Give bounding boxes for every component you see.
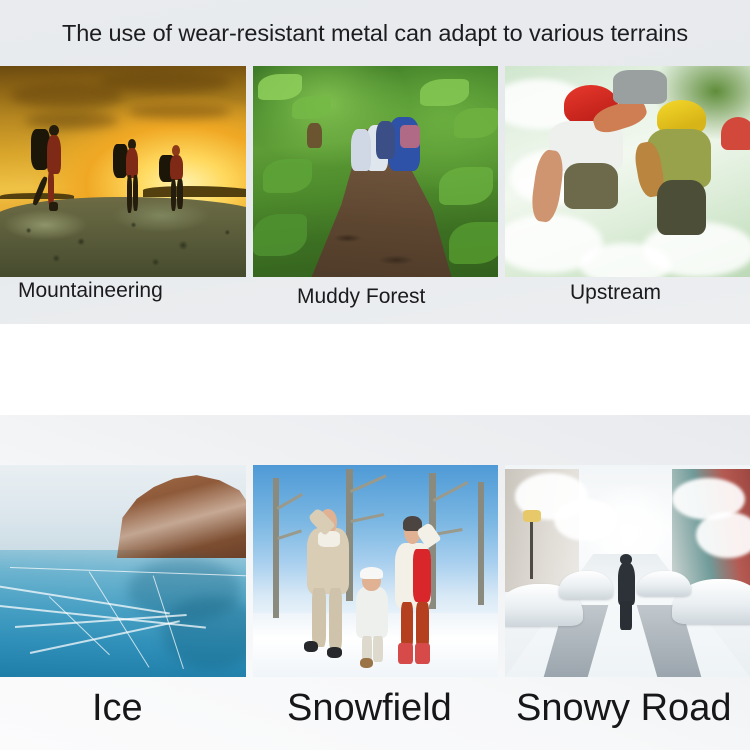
pedestrian	[618, 563, 635, 605]
hiker-silhouette	[30, 123, 84, 224]
label-upstream: Upstream	[570, 281, 661, 305]
bottom-labels-row: Ice Snowfield Snowy Road	[0, 687, 750, 747]
bottom-panel: Ice Snowfield Snowy Road	[0, 415, 750, 750]
trail-hiker	[376, 121, 396, 159]
mountaineering-photo	[0, 66, 246, 277]
top-labels-row: Mountaineering Muddy Forest Upstream	[0, 279, 750, 324]
bottom-image-row	[0, 465, 750, 677]
section-divider	[0, 324, 750, 415]
muddy-forest-photo	[253, 66, 498, 277]
backpack	[400, 125, 420, 148]
label-ice: Ice	[92, 687, 143, 730]
page-headline: The use of wear-resistant metal can adap…	[0, 20, 750, 47]
label-mountaineering: Mountaineering	[18, 279, 163, 303]
hiker-silhouette	[157, 142, 201, 222]
snowy-road-image-cell[interactable]	[505, 465, 750, 677]
street-lamp-head	[523, 510, 540, 523]
label-snowfield: Snowfield	[287, 687, 452, 730]
ice-photo	[0, 465, 246, 677]
snow-covered-car	[637, 571, 691, 596]
label-muddy-forest: Muddy Forest	[297, 285, 425, 309]
snowfield-image-cell[interactable]	[253, 465, 498, 677]
person-child	[346, 567, 400, 669]
upstream-photo	[505, 66, 750, 277]
mountaineering-image-cell[interactable]	[0, 66, 246, 277]
top-panel: The use of wear-resistant metal can adap…	[0, 0, 750, 324]
trail-hiker	[351, 129, 371, 171]
upstream-image-cell[interactable]	[505, 66, 750, 277]
pedestrian-legs	[620, 601, 632, 631]
snowfield-photo	[253, 465, 498, 677]
pedestrian-head	[620, 554, 632, 565]
trail-hiker	[307, 123, 322, 148]
snowy-road-photo	[505, 465, 750, 677]
hiker-silhouette	[111, 136, 155, 225]
label-snowy-road: Snowy Road	[516, 687, 731, 730]
product-feature-page: The use of wear-resistant metal can adap…	[0, 0, 750, 750]
muddy-forest-image-cell[interactable]	[253, 66, 498, 277]
snow-covered-car	[559, 571, 613, 599]
top-image-row	[0, 66, 750, 277]
ice-image-cell[interactable]	[0, 465, 246, 677]
